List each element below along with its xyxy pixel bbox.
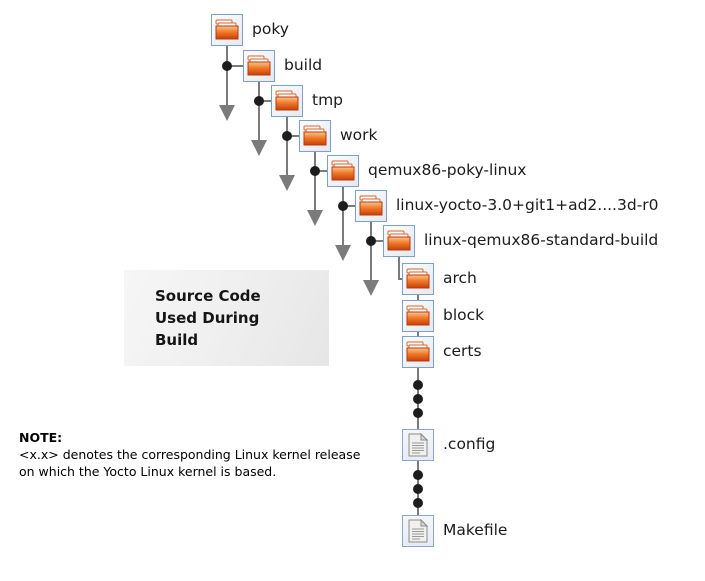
document-icon [402, 429, 434, 461]
tree-node-label: qemux86-poky-linux [368, 163, 526, 179]
tree-node-poky[interactable]: poky [211, 14, 289, 46]
folder-icon [243, 50, 275, 82]
note-body: <x.x> denotes the corresponding Linux ke… [19, 446, 374, 480]
tree-node-label: block [443, 308, 484, 324]
tree-node-label: arch [443, 271, 477, 287]
folder-icon [383, 225, 415, 257]
tree-node-label: tmp [312, 93, 343, 109]
folder-icon [402, 263, 434, 295]
tree-node-label: linux-yocto-3.0+git1+ad2....3d-r0 [396, 198, 659, 214]
tree-node-makefile[interactable]: Makefile [402, 515, 507, 547]
folder-icon [355, 190, 387, 222]
tree-node-label: work [340, 128, 378, 144]
tree-node-arch[interactable]: arch [402, 263, 477, 295]
folder-icon [402, 336, 434, 368]
folder-icon [271, 85, 303, 117]
note-title: NOTE: [19, 430, 399, 446]
document-icon [402, 515, 434, 547]
tree-node-linux-yocto[interactable]: linux-yocto-3.0+git1+ad2....3d-r0 [355, 190, 659, 222]
tree-node-label: build [284, 58, 322, 74]
source-code-callout-box: Source Code Used During Build [124, 270, 329, 366]
note-block: NOTE: <x.x> denotes the corresponding Li… [19, 430, 399, 480]
tree-node-block[interactable]: block [402, 300, 484, 332]
tree-node-qemux86-poky-linux[interactable]: qemux86-poky-linux [327, 155, 526, 187]
folder-icon [402, 300, 434, 332]
tree-node-label: poky [252, 22, 289, 38]
tree-node-label: Makefile [443, 523, 507, 539]
connector-lines [0, 0, 705, 581]
tree-node-label: .config [443, 437, 495, 453]
tree-node-config[interactable]: .config [402, 429, 495, 461]
tree-node-label: certs [443, 344, 482, 360]
diagram-canvas: poky build tmp [0, 0, 705, 581]
tree-node-work[interactable]: work [299, 120, 378, 152]
callout-text: Source Code Used During Build [155, 285, 261, 351]
folder-icon [327, 155, 359, 187]
tree-node-certs[interactable]: certs [402, 336, 482, 368]
folder-icon [211, 14, 243, 46]
folder-icon [299, 120, 331, 152]
tree-node-linux-qemux86-standard-build[interactable]: linux-qemux86-standard-build [383, 225, 658, 257]
tree-node-label: linux-qemux86-standard-build [424, 233, 658, 249]
tree-node-build[interactable]: build [243, 50, 322, 82]
tree-node-tmp[interactable]: tmp [271, 85, 343, 117]
